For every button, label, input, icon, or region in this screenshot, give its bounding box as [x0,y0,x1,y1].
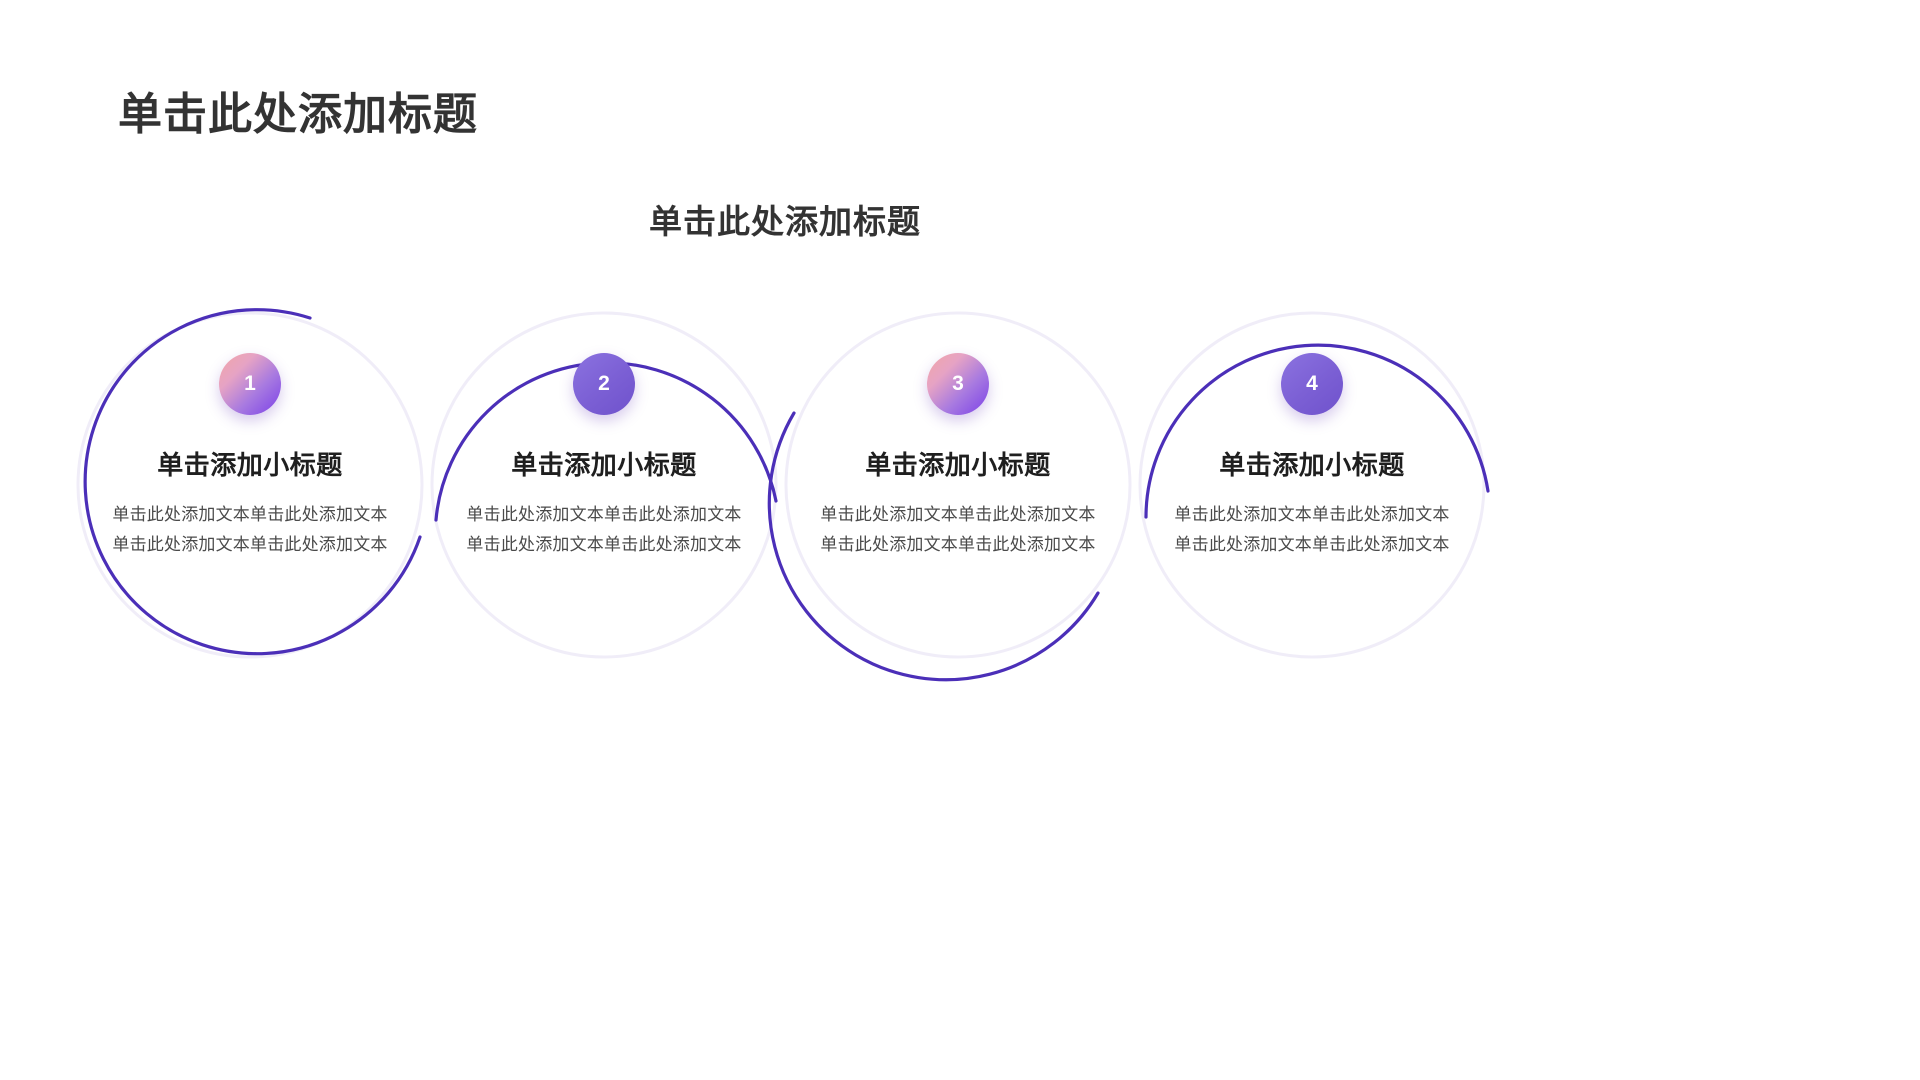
step-number-3: 3 [952,372,964,396]
step-number-2: 2 [598,372,610,396]
circle-text-3: 单击添加小标题 单击此处添加文本单击此处添加文本单击此处添加文本单击此处添加文本 [815,445,1101,560]
step-number-1: 1 [244,372,256,396]
step-badge-1[interactable]: 1 [219,353,281,415]
circle-item-3[interactable]: 3 单击添加小标题 单击此处添加文本单击此处添加文本单击此处添加文本单击此处添加… [778,305,1138,665]
slide-canvas: 单击此处添加标题 单击此处添加标题 1 单击添加小标题 单击此处添加文本单击此处… [0,0,1920,1080]
item-heading-2[interactable]: 单击添加小标题 [461,445,747,482]
step-badge-2[interactable]: 2 [573,353,635,415]
circle-diagram-row: 1 单击添加小标题 单击此处添加文本单击此处添加文本单击此处添加文本单击此处添加… [0,0,1920,1080]
circle-item-2[interactable]: 2 单击添加小标题 单击此处添加文本单击此处添加文本单击此处添加文本单击此处添加… [424,305,784,665]
item-body-3[interactable]: 单击此处添加文本单击此处添加文本单击此处添加文本单击此处添加文本 [815,500,1101,560]
circle-text-4: 单击添加小标题 单击此处添加文本单击此处添加文本单击此处添加文本单击此处添加文本 [1169,445,1455,560]
step-number-4: 4 [1306,372,1318,396]
step-badge-4[interactable]: 4 [1281,353,1343,415]
item-body-2[interactable]: 单击此处添加文本单击此处添加文本单击此处添加文本单击此处添加文本 [461,500,747,560]
circle-item-4[interactable]: 4 单击添加小标题 单击此处添加文本单击此处添加文本单击此处添加文本单击此处添加… [1132,305,1492,665]
circle-text-2: 单击添加小标题 单击此处添加文本单击此处添加文本单击此处添加文本单击此处添加文本 [461,445,747,560]
circle-text-1: 单击添加小标题 单击此处添加文本单击此处添加文本单击此处添加文本单击此处添加文本 [107,445,393,560]
item-heading-1[interactable]: 单击添加小标题 [107,445,393,482]
circle-item-1[interactable]: 1 单击添加小标题 单击此处添加文本单击此处添加文本单击此处添加文本单击此处添加… [70,305,430,665]
item-body-4[interactable]: 单击此处添加文本单击此处添加文本单击此处添加文本单击此处添加文本 [1169,500,1455,560]
item-heading-4[interactable]: 单击添加小标题 [1169,445,1455,482]
item-body-1[interactable]: 单击此处添加文本单击此处添加文本单击此处添加文本单击此处添加文本 [107,500,393,560]
step-badge-3[interactable]: 3 [927,353,989,415]
item-heading-3[interactable]: 单击添加小标题 [815,445,1101,482]
